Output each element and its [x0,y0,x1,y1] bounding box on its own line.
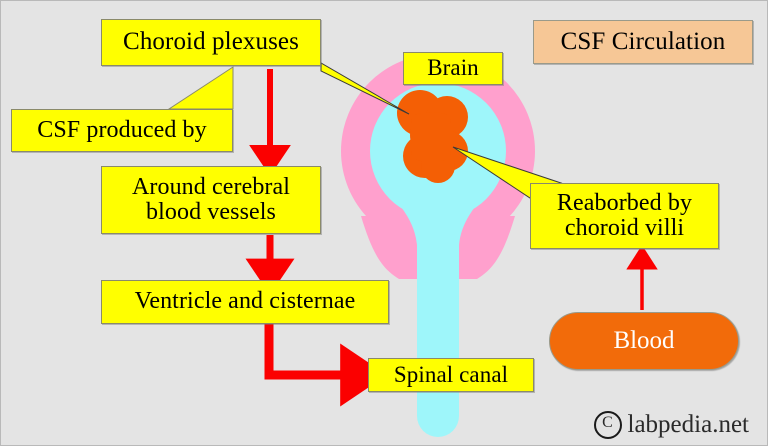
label-reaborbed-lines: Reaborbed by choroid villi [531,191,718,242]
label-reaborbed-line1: Reaborbed by [531,191,718,216]
label-around-cerebral-lines: Around cerebral blood vessels [102,175,320,226]
label-brain-text: Brain [404,56,502,80]
diagram-canvas: Choroid plexuses CSF produced by Around … [0,0,768,446]
copyright-icon: C [594,411,622,439]
label-brain[interactable]: Brain [403,52,503,85]
label-around-cerebral-blood-vessels[interactable]: Around cerebral blood vessels [101,166,321,234]
label-ventricle-and-cisternae-text: Ventricle and cisternae [102,289,388,314]
label-choroid-plexuses-text: Choroid plexuses [102,29,320,56]
label-reaborbed-line2: choroid villi [531,216,718,241]
label-ventricle-and-cisternae[interactable]: Ventricle and cisternae [101,280,389,324]
label-csf-produced-by[interactable]: CSF produced by [11,109,233,152]
copyright-watermark: C labpedia.net [594,411,749,439]
diagram-title: CSF Circulation [533,20,753,64]
label-blood[interactable]: Blood [549,312,739,370]
label-around-cerebral-line2: blood vessels [102,200,320,225]
leader-csf-produced-by [169,67,233,109]
label-around-cerebral-line1: Around cerebral [102,175,320,200]
label-spinal-canal[interactable]: Spinal canal [368,358,534,392]
label-spinal-canal-text: Spinal canal [369,363,533,387]
watermark-text: labpedia.net [628,411,749,439]
diagram-title-text: CSF Circulation [534,29,752,56]
label-csf-produced-by-text: CSF produced by [12,118,232,143]
label-reaborbed-by-choroid-villi[interactable]: Reaborbed by choroid villi [530,183,719,249]
label-choroid-plexuses[interactable]: Choroid plexuses [101,19,321,66]
label-blood-text: Blood [613,327,674,355]
